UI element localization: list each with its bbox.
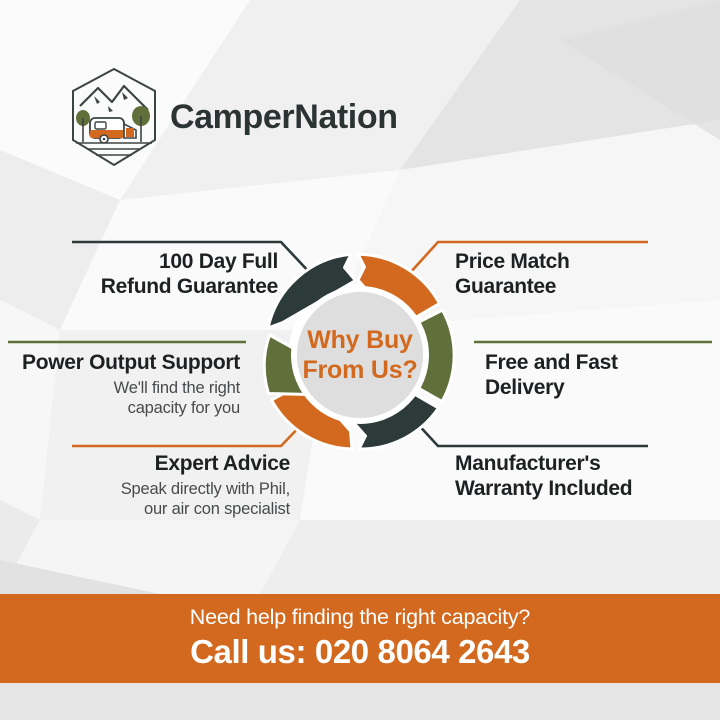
benefit-subtitle: Speak directly with Phil, [10,479,290,499]
why-buy-from-us-donut [245,240,475,470]
camper-hexagon-badge-icon [68,66,160,168]
benefit-title: Free and Fast [485,351,720,376]
benefit-label-power-output-support[interactable]: Power Output Support We'll find the righ… [0,351,240,418]
benefit-title-line2: Guarantee [455,275,717,300]
footer-strip [0,683,720,720]
brand-logo[interactable]: CamperNation [68,66,398,168]
benefit-subtitle: We'll find the right [0,378,240,398]
benefit-subtitle-line2: our air con specialist [10,499,290,519]
benefit-label-free-fast-delivery[interactable]: Free and Fast Delivery [485,351,720,401]
banner-prompt: Need help finding the right capacity? [190,606,530,630]
benefit-title: Price Match [455,250,717,275]
contact-banner: Need help finding the right capacity? Ca… [0,594,720,683]
infographic-canvas: CamperNation [0,0,720,720]
benefit-title-line2: Delivery [485,376,720,401]
benefit-title: Power Output Support [0,351,240,376]
benefit-label-refund-guarantee[interactable]: 100 Day Full Refund Guarantee [10,250,278,300]
benefit-label-price-match-guarantee[interactable]: Price Match Guarantee [455,250,717,300]
benefit-title: 100 Day Full [10,250,278,275]
benefit-label-expert-advice[interactable]: Expert Advice Speak directly with Phil, … [10,452,290,519]
banner-phone-cta[interactable]: Call us: 020 8064 2643 [190,633,530,671]
benefit-label-manufacturer-warranty[interactable]: Manufacturer's Warranty Included [455,452,720,502]
benefit-title: Expert Advice [10,452,290,477]
benefit-title: Manufacturer's [455,452,720,477]
brand-name: CamperNation [170,100,398,134]
benefit-subtitle-line2: capacity for you [0,398,240,418]
benefit-title-line2: Warranty Included [455,477,720,502]
benefit-title-line2: Refund Guarantee [10,275,278,300]
